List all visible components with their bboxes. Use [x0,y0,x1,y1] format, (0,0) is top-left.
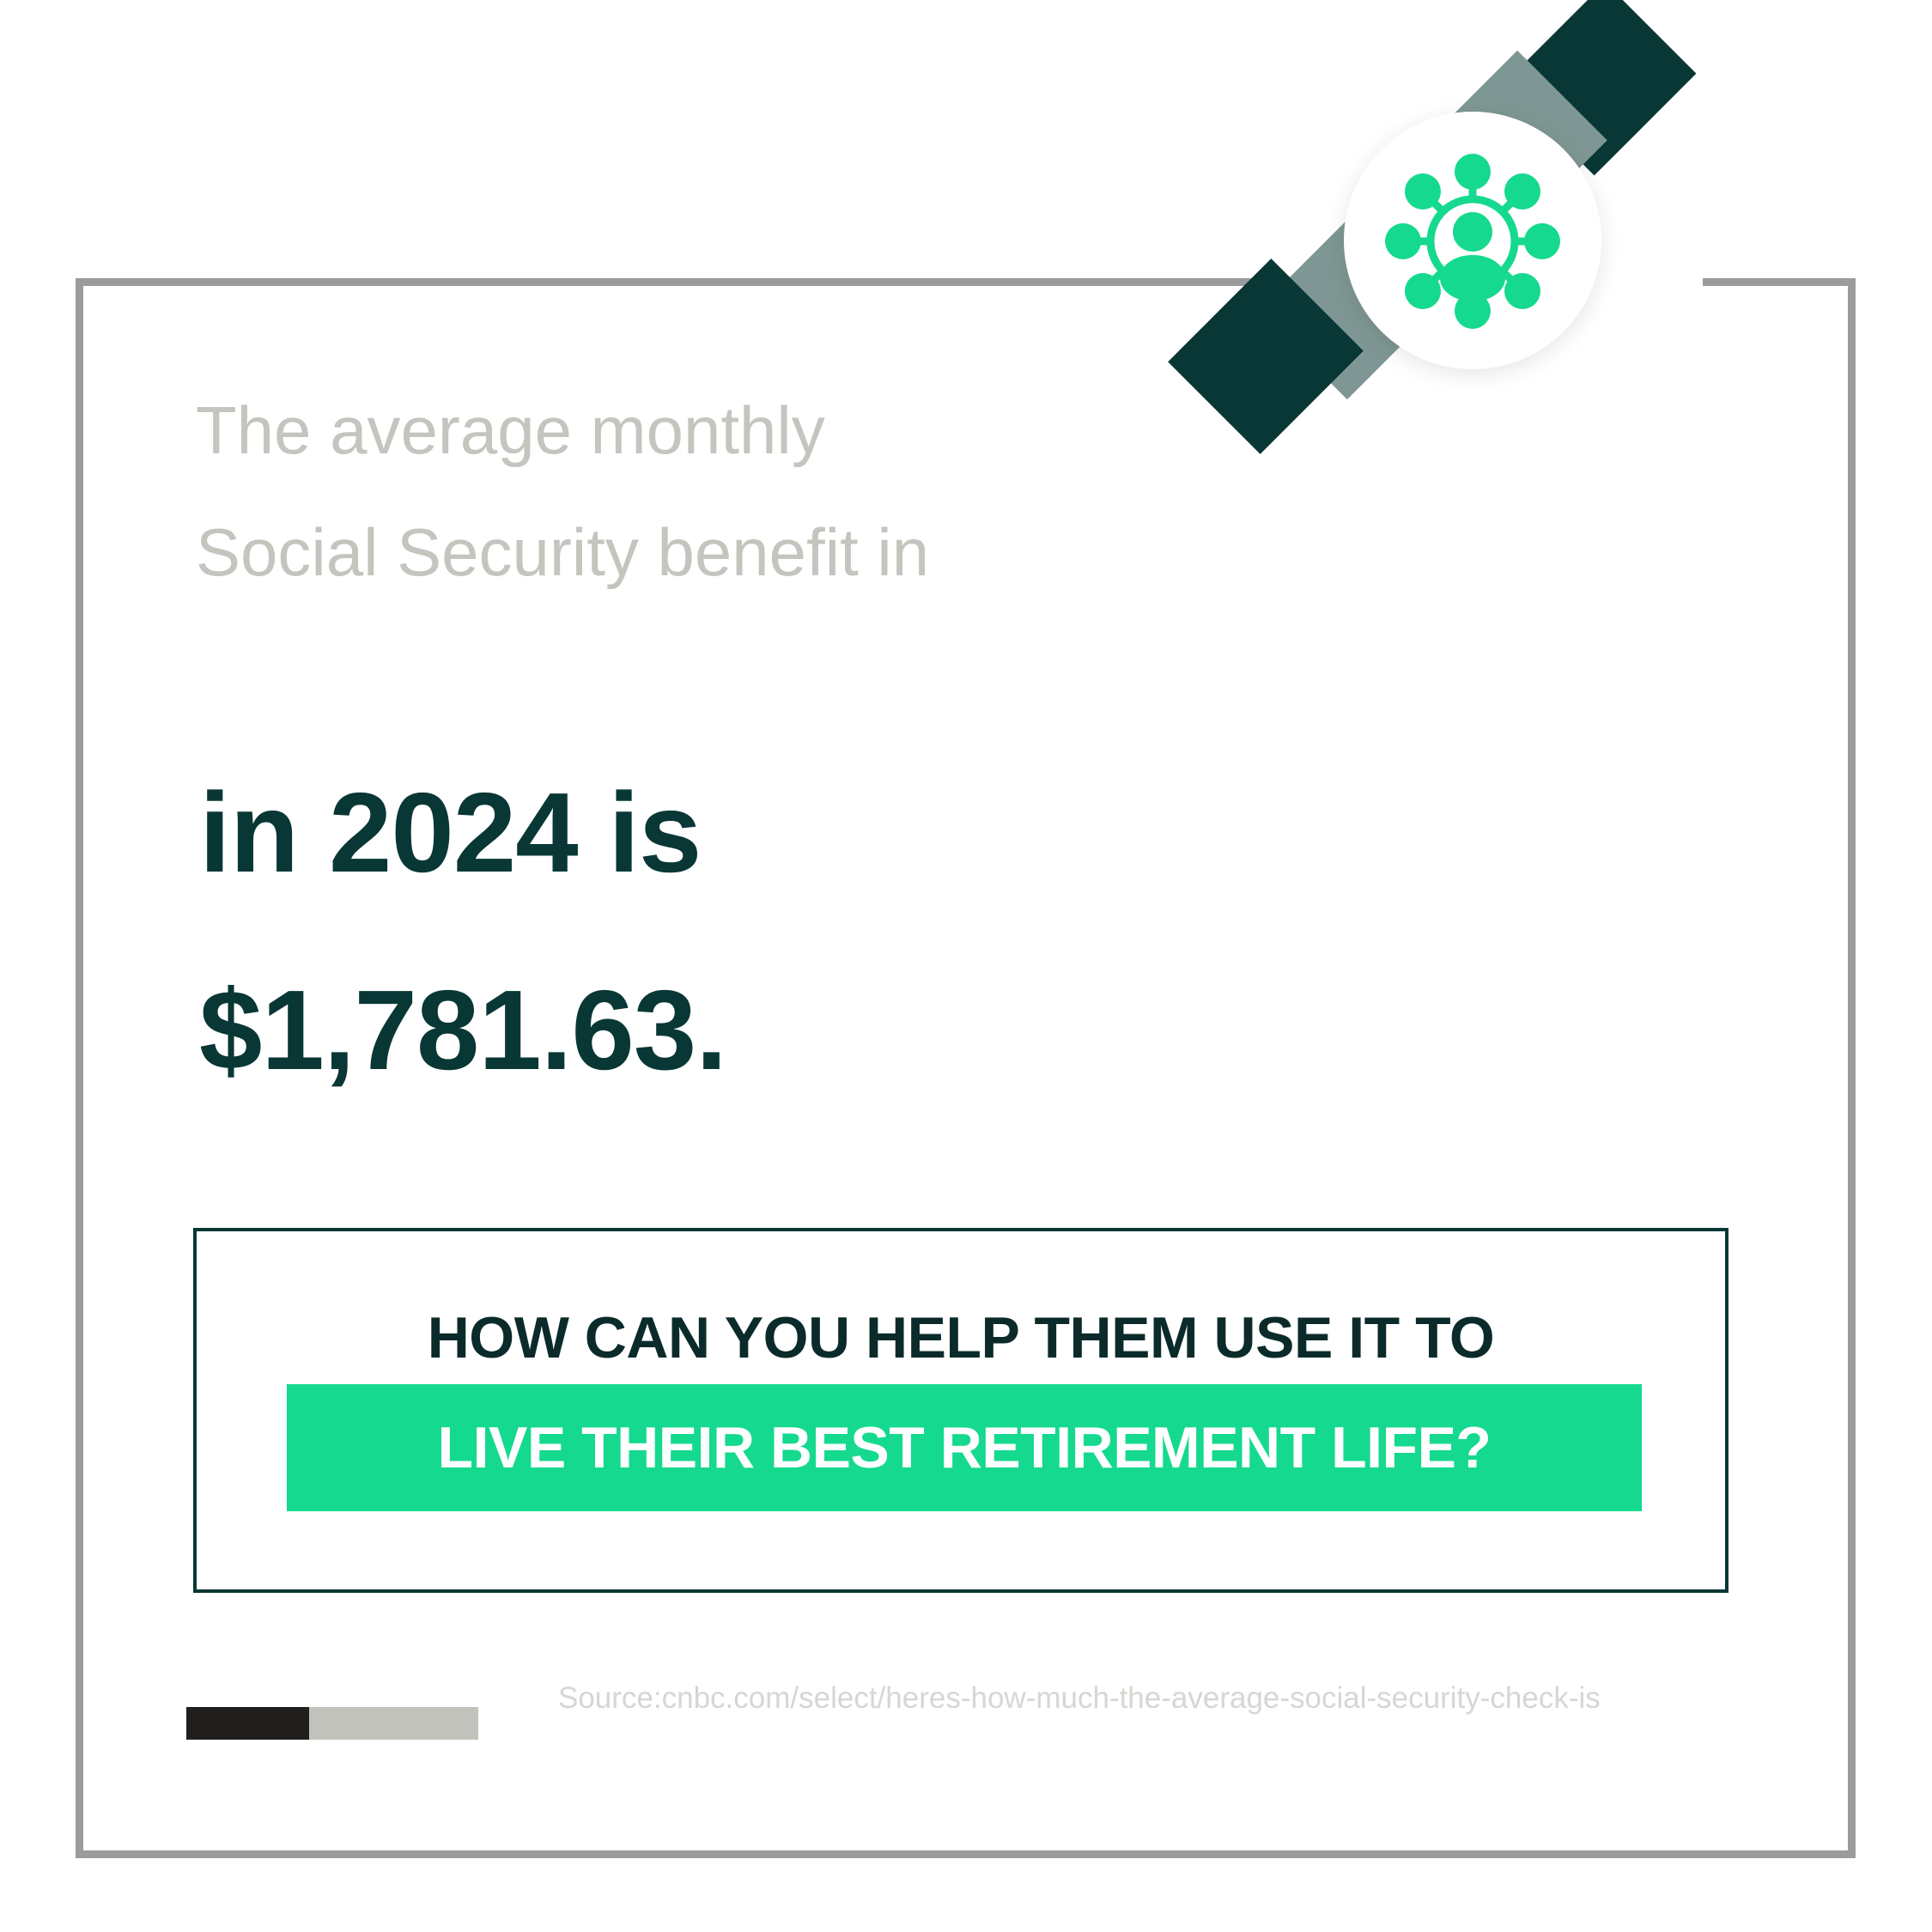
intro-line-2: Social Security benefit in [196,491,1269,613]
progress-bar-track [309,1707,478,1740]
headline-text: in 2024 is $1,781.63. [199,734,1401,1129]
headline-line-1: in 2024 is [199,734,1401,932]
intro-text: The average monthly Social Security bene… [196,369,1269,613]
headline-line-2: $1,781.63. [199,932,1401,1129]
infographic-canvas: The average monthly Social Security bene… [0,0,1932,1932]
cta-box: HOW CAN YOU HELP THEM USE IT TO LIVE THE… [193,1228,1728,1593]
progress-bar [186,1707,478,1740]
frame-top-left-segment [76,278,1258,286]
source-attribution: Source:cnbc.com/select/heres-how-much-th… [558,1676,1726,1721]
cta-question-line-1: HOW CAN YOU HELP THEM USE IT TO [197,1304,1725,1371]
frame-bottom-edge [76,1850,1856,1858]
people-network-icon [1381,149,1564,333]
ribbon-badge-graphic [1185,0,1752,618]
frame-right-edge [1848,278,1856,1858]
progress-bar-fill [186,1707,309,1740]
cta-question-line-2: LIVE THEIR BEST RETIREMENT LIFE? [438,1414,1492,1481]
frame-left-edge [76,278,83,1858]
cta-highlight-bar: LIVE THEIR BEST RETIREMENT LIFE? [287,1384,1642,1511]
intro-line-1: The average monthly [196,369,1269,491]
